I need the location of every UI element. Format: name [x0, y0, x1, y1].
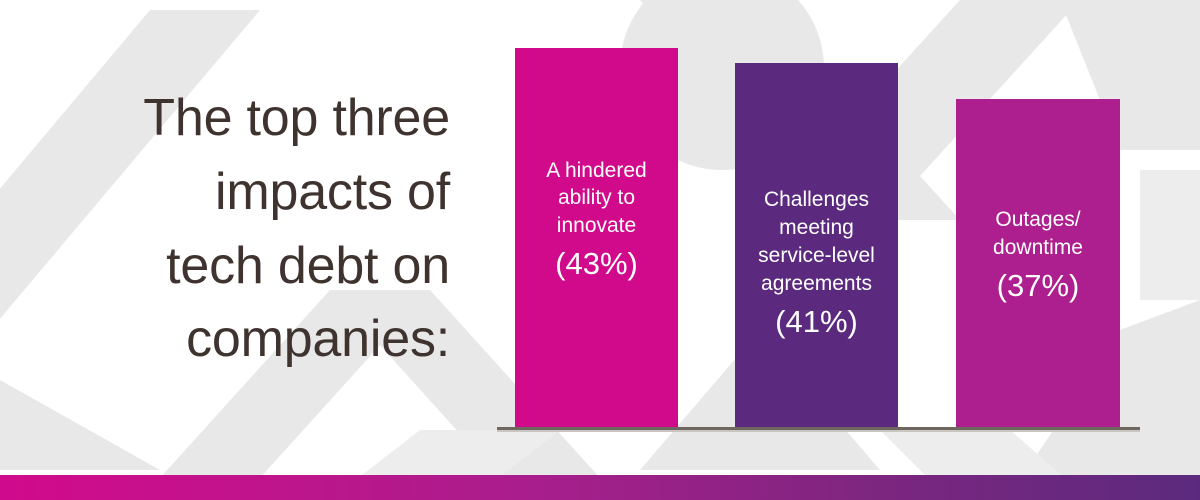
bar-outages-downtime: Outages/ downtime (37%) — [956, 99, 1120, 427]
bar-chart-plot: A hindered ability to innovate (43%) Cha… — [0, 0, 1200, 500]
bar-label: Challenges meeting service-level agreeme… — [741, 186, 892, 298]
chart-baseline-shadow — [497, 430, 1140, 432]
bar-text-block: Outages/ downtime (37%) — [956, 206, 1120, 304]
bar-text-block: Challenges meeting service-level agreeme… — [735, 186, 898, 340]
infographic-canvas: The top three impacts of tech debt on co… — [0, 0, 1200, 500]
bar-label: A hindered ability to innovate — [521, 157, 672, 241]
bar-value-label: (37%) — [962, 267, 1114, 304]
bar-value-label: (43%) — [521, 245, 672, 282]
bar-value-label: (41%) — [741, 303, 892, 340]
bar-a-hindered-ability-to-innovate: A hindered ability to innovate (43%) — [515, 48, 678, 427]
bar-label: Outages/ downtime — [962, 206, 1114, 262]
bar-text-block: A hindered ability to innovate (43%) — [515, 157, 678, 283]
bottom-accent-strip — [0, 475, 1200, 500]
bar-challenges-meeting-service-level-agreements: Challenges meeting service-level agreeme… — [735, 63, 898, 427]
